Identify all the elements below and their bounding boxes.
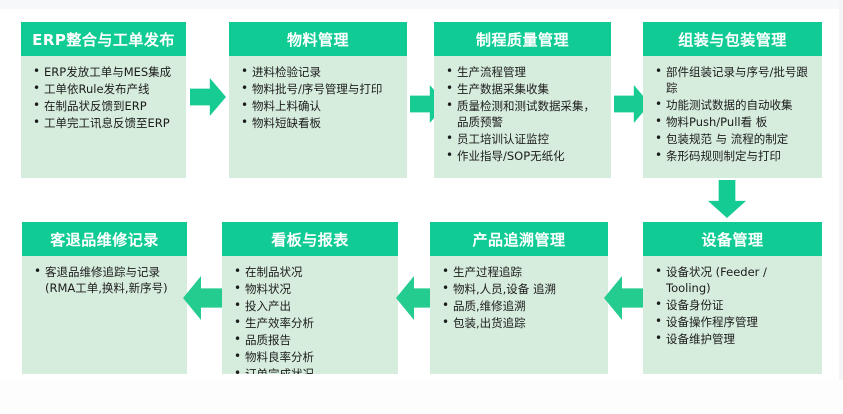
list-item: 工单依Rule发布产线 <box>42 81 179 97</box>
process-box-body: ERP发放工单与MES集成 工单依Rule发布产线 在制品状反馈到ERP 工单完… <box>21 56 186 138</box>
list-item: 员工培训认证监控 <box>455 131 604 147</box>
list-item: 订单完成状况 <box>243 366 391 374</box>
connector-erp-to-material <box>190 78 226 116</box>
list-item: 质量检测和测试数据采集，品质预警 <box>455 98 604 130</box>
process-box-body: 生产流程管理 生产数据采集收集 质量检测和测试数据采集，品质预警 员工培训认证监… <box>434 56 611 171</box>
process-box-rma[interactable]: 客退品维修记录 客退品维修追踪与记录(RMA工单,换料,新序号) <box>22 222 187 374</box>
list-item: 设备状况 (Feeder / Tooling) <box>664 264 815 296</box>
list-item: 客退品维修追踪与记录(RMA工单,换料,新序号) <box>43 264 180 296</box>
list-item: 生产效率分析 <box>243 315 391 331</box>
process-box-body: 客退品维修追踪与记录(RMA工单,换料,新序号) <box>22 256 187 303</box>
process-box-erp[interactable]: ERP整合与工单发布 ERP发放工单与MES集成 工单依Rule发布产线 在制品… <box>21 22 186 178</box>
list-item: 进料检验记录 <box>250 64 400 80</box>
connector-kanban-to-rma <box>183 276 223 320</box>
process-box-process-quality[interactable]: 制程质量管理 生产流程管理 生产数据采集收集 质量检测和测试数据采集，品质预警 … <box>434 22 611 178</box>
list-item: 物料上料确认 <box>250 98 400 114</box>
bullet-list: 部件组装记录与序号/批号跟踪 功能测试数据的自动收集 物料Push/Pull看 … <box>652 64 815 164</box>
list-item: 物料批号/序号管理与打印 <box>250 81 400 97</box>
bullet-list: 生产流程管理 生产数据采集收集 质量检测和测试数据采集，品质预警 员工培训认证监… <box>443 64 604 164</box>
process-box-title: 物料管理 <box>229 22 407 56</box>
bullet-list: 进料检验记录 物料批号/序号管理与打印 物料上料确认 物料短缺看板 <box>238 64 400 131</box>
process-box-body: 生产过程追踪 物料,人员,设备 追溯 品质,维修追溯 包装,出货追踪 <box>430 256 608 338</box>
list-item: 包装,出货追踪 <box>451 315 601 331</box>
list-item: 生产流程管理 <box>455 64 604 80</box>
list-item: 物料状况 <box>243 281 391 297</box>
list-item: 品质报告 <box>243 332 391 348</box>
list-item: ERP发放工单与MES集成 <box>42 64 179 80</box>
process-box-title: ERP整合与工单发布 <box>21 22 186 56</box>
list-item: 在制品状反馈到ERP <box>42 98 179 114</box>
connector-equipment-to-traceability <box>604 276 644 320</box>
list-item: 物料短缺看板 <box>250 115 400 131</box>
process-box-material[interactable]: 物料管理 进料检验记录 物料批号/序号管理与打印 物料上料确认 物料短缺看板 <box>229 22 407 178</box>
process-box-assembly-packing[interactable]: 组装与包装管理 部件组装记录与序号/批号跟踪 功能测试数据的自动收集 物料Pus… <box>643 22 822 178</box>
list-item: 设备操作程序管理 <box>664 314 815 330</box>
list-item: 在制品状况 <box>243 264 391 280</box>
connector-assembly-to-equipment <box>708 180 746 218</box>
process-flow-diagram: ERP整合与工单发布 ERP发放工单与MES集成 工单依Rule发布产线 在制品… <box>0 0 843 414</box>
list-item: 作业指导/SOP无纸化 <box>455 148 604 164</box>
process-box-kanban-report[interactable]: 看板与报表 在制品状况 物料状况 投入产出 生产效率分析 品质报告 物料良率分析… <box>222 222 398 374</box>
process-box-title: 客退品维修记录 <box>22 222 187 256</box>
bullet-list: 设备状况 (Feeder / Tooling) 设备身份证 设备操作程序管理 设… <box>652 264 815 347</box>
list-item: 品质,维修追溯 <box>451 298 601 314</box>
list-item: 条形码规则制定与打印 <box>664 148 815 164</box>
process-box-body: 进料检验记录 物料批号/序号管理与打印 物料上料确认 物料短缺看板 <box>229 56 407 138</box>
process-box-body: 部件组装记录与序号/批号跟踪 功能测试数据的自动收集 物料Push/Pull看 … <box>643 56 822 171</box>
list-item: 物料良率分析 <box>243 349 391 365</box>
list-item: 工单完工讯息反馈至ERP <box>42 115 179 131</box>
process-box-body: 设备状况 (Feeder / Tooling) 设备身份证 设备操作程序管理 设… <box>643 256 822 354</box>
process-box-title: 设备管理 <box>643 222 822 256</box>
list-item: 部件组装记录与序号/批号跟踪 <box>664 64 815 96</box>
bullet-list: 客退品维修追踪与记录(RMA工单,换料,新序号) <box>31 264 180 296</box>
list-item: 设备维护管理 <box>664 331 815 347</box>
list-item: 物料Push/Pull看 板 <box>664 114 815 130</box>
bullet-list: ERP发放工单与MES集成 工单依Rule发布产线 在制品状反馈到ERP 工单完… <box>30 64 179 131</box>
list-item: 物料,人员,设备 追溯 <box>451 281 601 297</box>
list-item: 设备身份证 <box>664 297 815 313</box>
process-box-title: 制程质量管理 <box>434 22 611 56</box>
list-item: 生产数据采集收集 <box>455 81 604 97</box>
process-box-equipment[interactable]: 设备管理 设备状况 (Feeder / Tooling) 设备身份证 设备操作程… <box>643 222 822 374</box>
list-item: 功能测试数据的自动收集 <box>664 97 815 113</box>
bullet-list: 在制品状况 物料状况 投入产出 生产效率分析 品质报告 物料良率分析 订单完成状… <box>231 264 391 374</box>
list-item: 投入产出 <box>243 298 391 314</box>
process-box-title: 看板与报表 <box>222 222 398 256</box>
process-box-title: 产品追溯管理 <box>430 222 608 256</box>
process-box-title: 组装与包装管理 <box>643 22 822 56</box>
list-item: 生产过程追踪 <box>451 264 601 280</box>
process-box-body: 在制品状况 物料状况 投入产出 生产效率分析 品质报告 物料良率分析 订单完成状… <box>222 256 398 374</box>
list-item: 包装规范 与 流程的制定 <box>664 131 815 147</box>
bullet-list: 生产过程追踪 物料,人员,设备 追溯 品质,维修追溯 包装,出货追踪 <box>439 264 601 331</box>
process-box-traceability[interactable]: 产品追溯管理 生产过程追踪 物料,人员,设备 追溯 品质,维修追溯 包装,出货追… <box>430 222 608 374</box>
